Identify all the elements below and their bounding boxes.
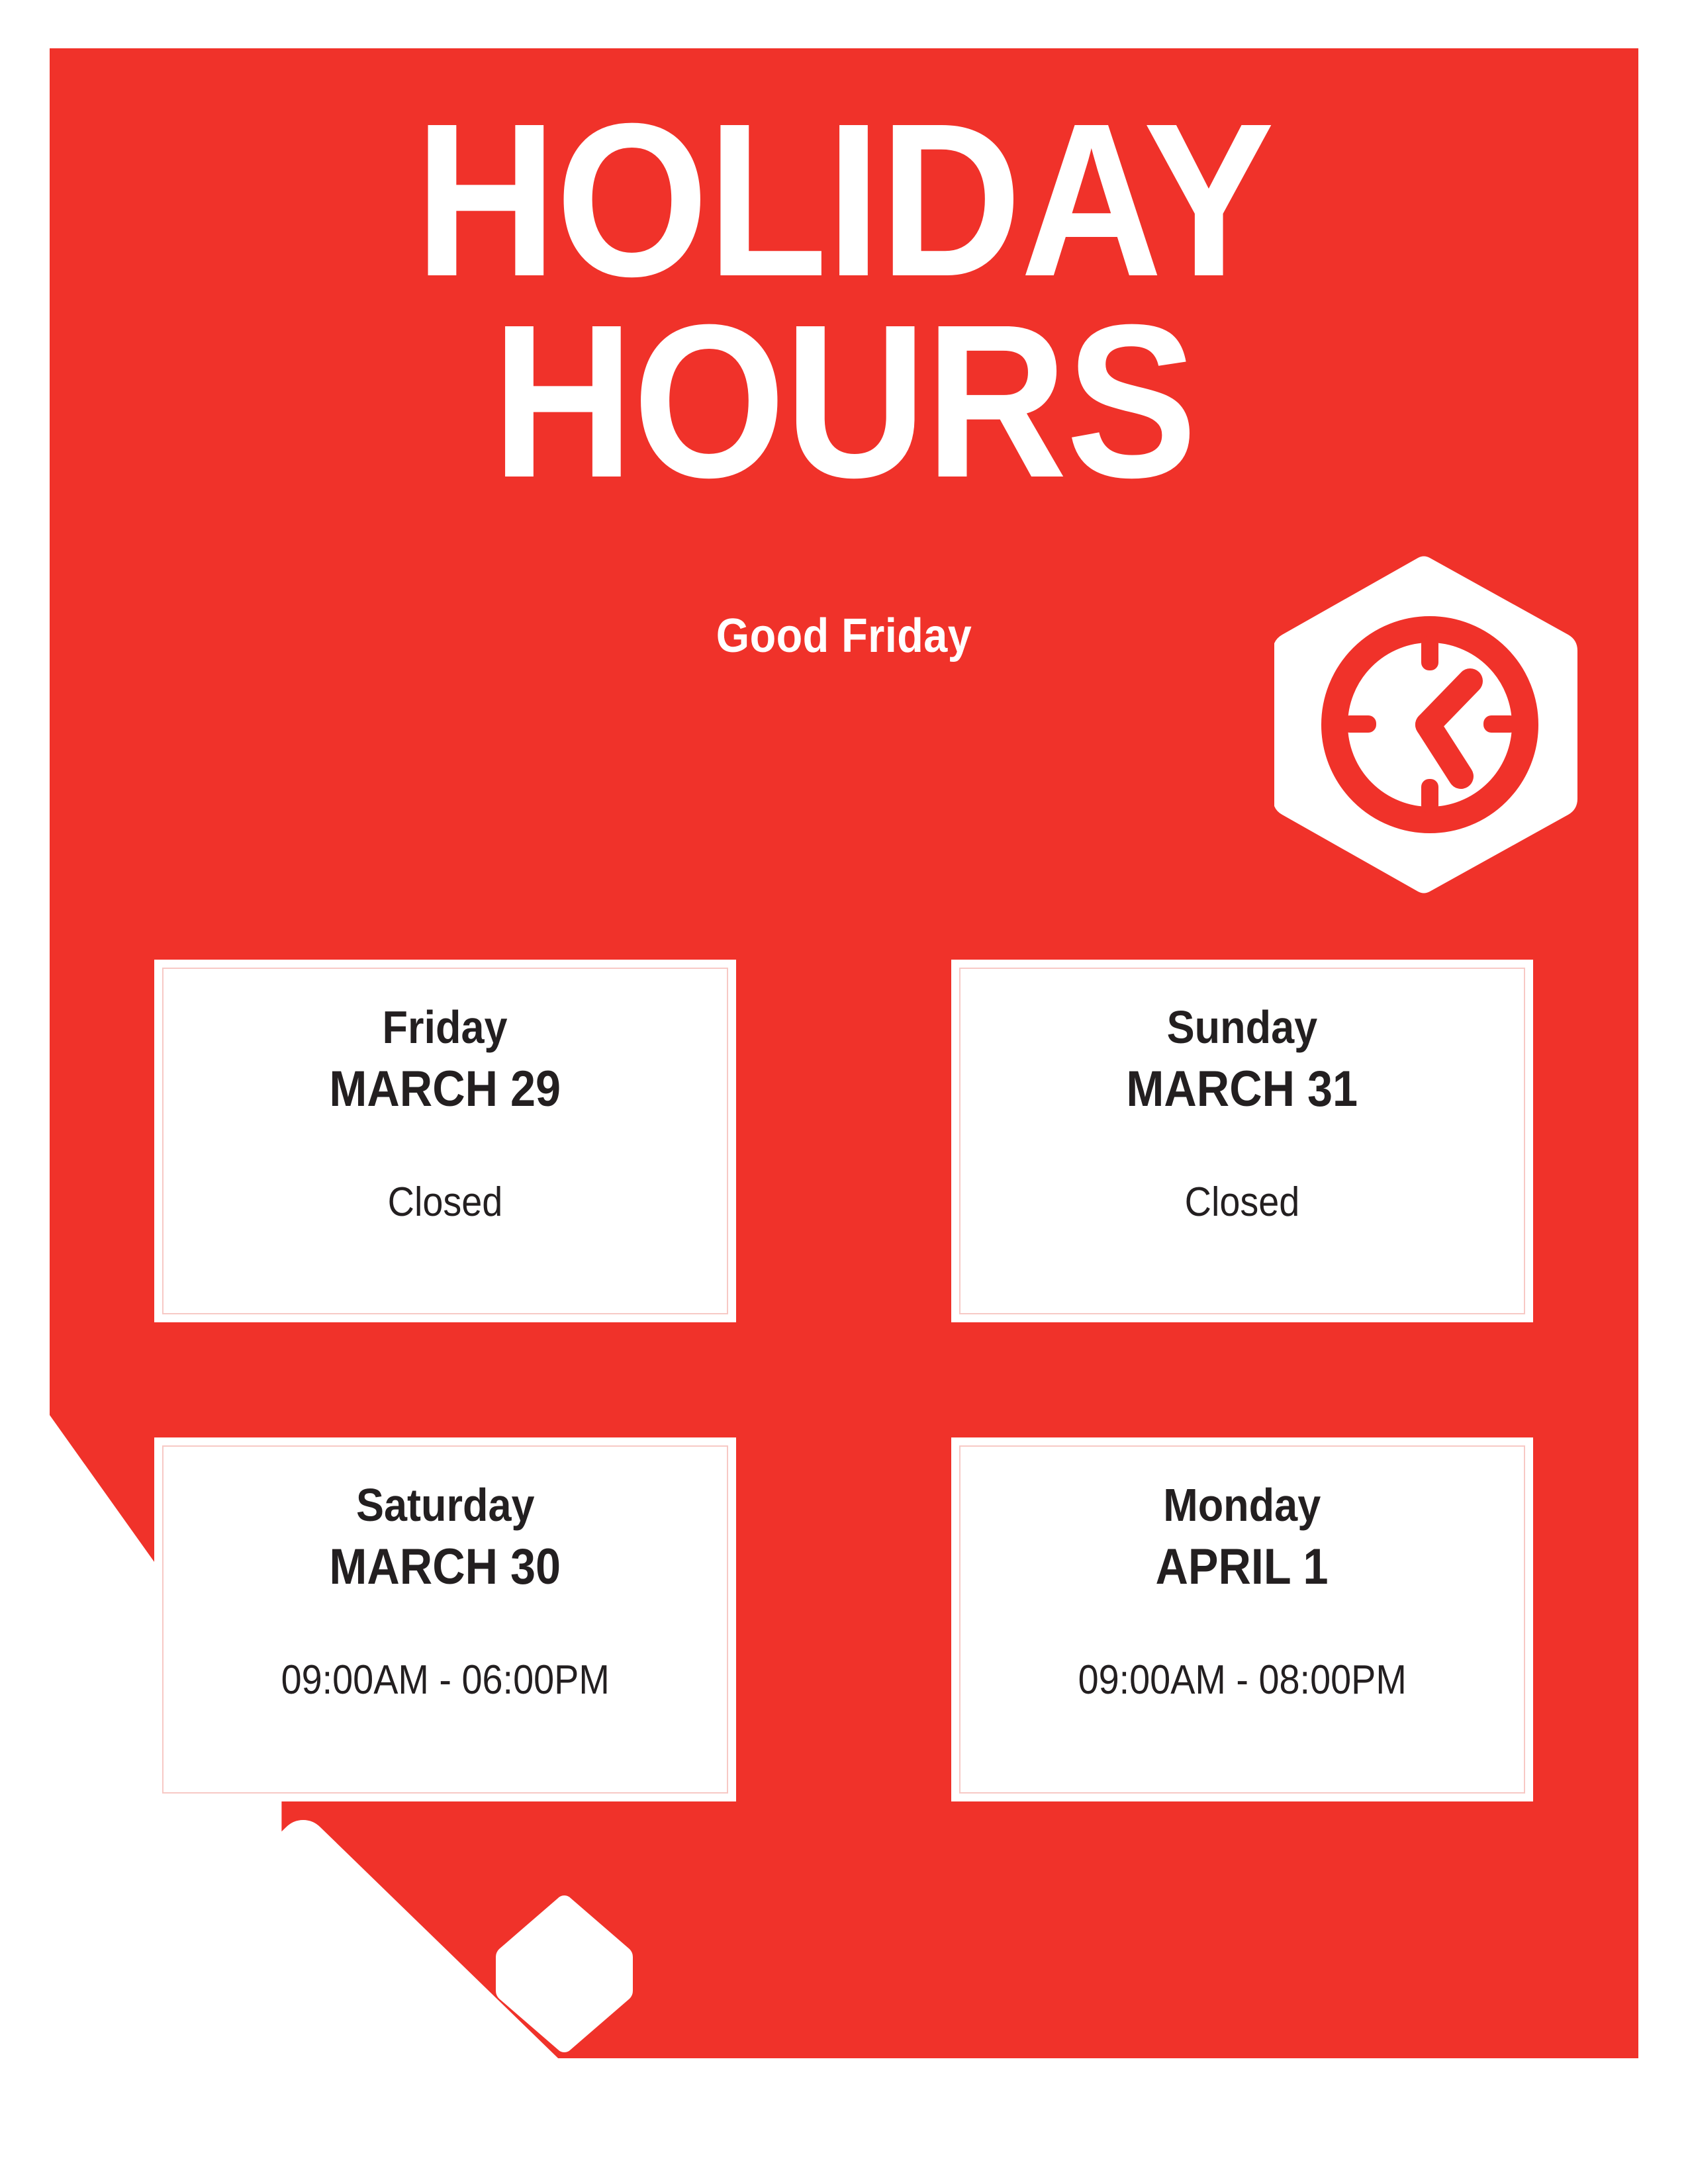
card-date-label: MARCH 31 [1127,1060,1358,1118]
hours-card-inner: Saturday MARCH 30 09:00AM - 06:00PM [162,1445,728,1794]
card-date-label: MARCH 29 [330,1060,561,1118]
card-day-label: Saturday [356,1479,535,1531]
card-day-label: Friday [383,1001,508,1054]
card-hours-label: 09:00AM - 08:00PM [1078,1657,1406,1704]
hours-card: Sunday MARCH 31 Closed [951,960,1533,1322]
clock-hexagon-icon [1274,553,1585,897]
hours-card: Friday MARCH 29 Closed [154,960,736,1322]
card-hours-label: Closed [388,1179,503,1226]
card-hours-label: 09:00AM - 06:00PM [281,1657,609,1704]
hours-card: Saturday MARCH 30 09:00AM - 06:00PM [154,1437,736,1801]
hours-card: Monday APRIL 1 09:00AM - 08:00PM [951,1437,1533,1801]
hours-card-inner: Sunday MARCH 31 Closed [959,968,1525,1314]
card-date-label: APRIL 1 [1156,1538,1329,1596]
card-day-label: Monday [1163,1479,1321,1531]
hexagon-decoration-small [493,1893,635,2055]
hours-card-inner: Monday APRIL 1 09:00AM - 08:00PM [959,1445,1525,1794]
card-hours-label: Closed [1185,1179,1300,1226]
holiday-hours-poster: HOLIDAY HOURS Good Friday Friday MARCH 2… [0,0,1688,2184]
card-date-label: MARCH 30 [330,1538,561,1596]
card-day-label: Sunday [1167,1001,1318,1054]
hours-card-inner: Friday MARCH 29 Closed [162,968,728,1314]
